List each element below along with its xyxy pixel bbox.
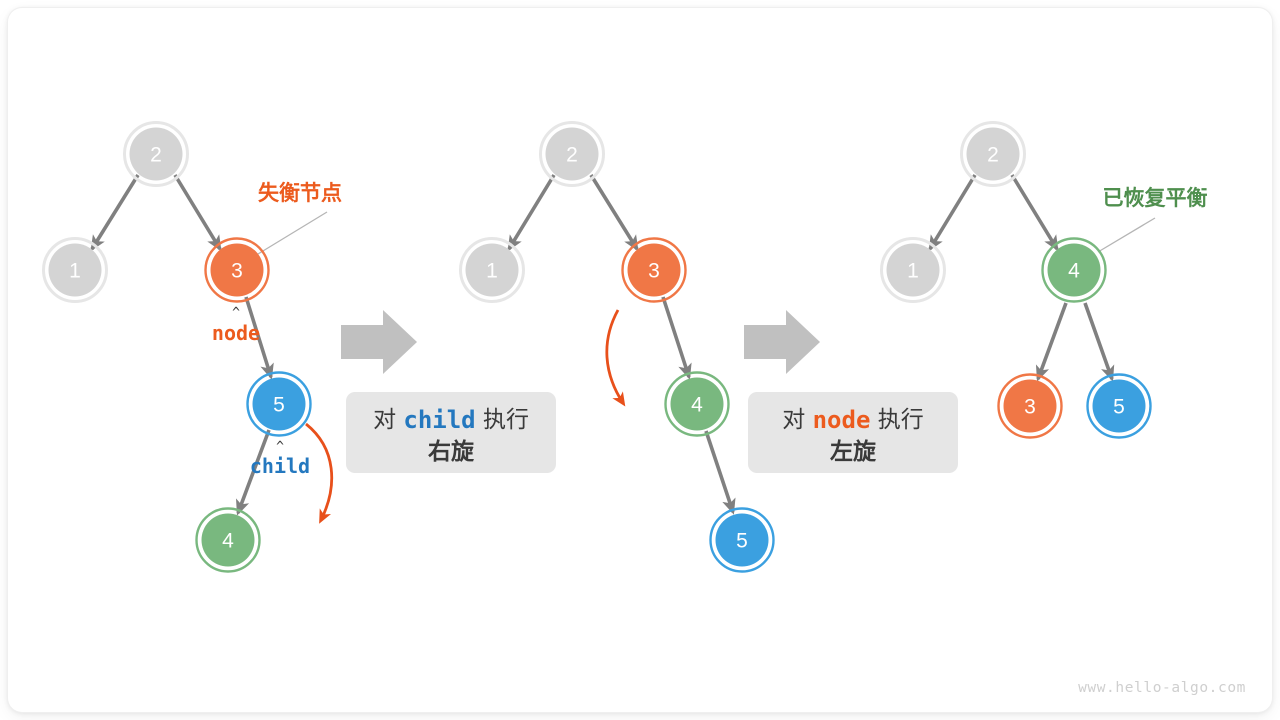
annotation-rebalanced: 已恢复平衡: [1103, 186, 1208, 210]
rotation-arrow-left: [607, 310, 623, 403]
node-label: 3: [231, 260, 243, 283]
edge-3-to-4: [663, 297, 689, 377]
edge-2-to-1: [92, 175, 138, 249]
node-label: 3: [648, 260, 660, 283]
node-p3-n3[interactable]: 3: [999, 375, 1062, 438]
node-p2-n1[interactable]: 1: [461, 239, 524, 302]
node-p2-n3[interactable]: 3: [623, 239, 686, 302]
big-arrow-1: [341, 310, 417, 374]
node-label: 4: [691, 394, 703, 417]
avl-rotation-figure: 2 1 3 5 4 失衡节点 ^: [0, 0, 1280, 720]
edge-2-to-3: [591, 175, 637, 249]
node-label: 1: [486, 260, 498, 283]
node-label: 2: [987, 144, 999, 167]
annotation-unbalanced-node: 失衡节点: [258, 181, 342, 205]
var-label-node: node: [212, 321, 260, 345]
edge-2-to-3: [175, 175, 220, 249]
node-label: 4: [222, 530, 234, 553]
edge-2-to-4: [1012, 175, 1057, 249]
node-p2-n5[interactable]: 5: [711, 509, 774, 572]
node-label: 5: [736, 530, 748, 553]
leader-line-rebalanced: [1098, 218, 1155, 252]
caption-line-2: 左旋: [830, 438, 877, 465]
caption-box-right-rotate: 对 child 执行 右旋: [346, 392, 556, 473]
node-label: 2: [150, 144, 162, 167]
node-p3-n2[interactable]: 2: [962, 123, 1025, 186]
edge-4-to-3: [1038, 303, 1066, 379]
caption-box-left-rotate: 对 node 执行 左旋: [748, 392, 958, 473]
leader-line-unbalanced: [258, 212, 327, 254]
node-p1-n1[interactable]: 1: [44, 239, 107, 302]
node-label: 1: [907, 260, 919, 283]
edge-4-to-5: [706, 431, 733, 512]
caption-var: child: [403, 406, 475, 434]
node-p1-n3[interactable]: 3: [206, 239, 269, 302]
caret-child: ^: [276, 440, 284, 455]
node-label: 5: [1113, 396, 1125, 419]
caption-suffix: 执行: [878, 407, 924, 433]
caption-prefix: 对: [373, 407, 396, 433]
watermark: www.hello-algo.com: [1078, 680, 1246, 696]
caption-line-1: 对 node 执行: [782, 406, 923, 434]
node-p2-n2[interactable]: 2: [541, 123, 604, 186]
caption-var: node: [813, 406, 871, 434]
edge-4-to-5: [1085, 303, 1112, 379]
caption-prefix: 对: [782, 407, 805, 433]
edge-2-to-1: [930, 175, 975, 249]
var-label-child: child: [250, 454, 310, 478]
node-label: 3: [1024, 396, 1036, 419]
panel-before: 2 1 3 5 4 失衡节点 ^: [44, 123, 343, 572]
node-p1-n2[interactable]: 2: [125, 123, 188, 186]
big-arrow-2: [744, 310, 820, 374]
caption-suffix: 执行: [483, 407, 529, 433]
node-p2-n4[interactable]: 4: [666, 373, 729, 436]
node-p3-n5[interactable]: 5: [1088, 375, 1151, 438]
diagram-canvas: 2 1 3 5 4 失衡节点 ^: [0, 0, 1280, 720]
node-p3-n1[interactable]: 1: [882, 239, 945, 302]
caption-line-1: 对 child 执行: [373, 406, 529, 434]
node-p1-n5[interactable]: 5: [248, 373, 311, 436]
node-label: 5: [273, 394, 285, 417]
caption-line-2: 右旋: [428, 438, 475, 465]
edge-2-to-1: [509, 175, 554, 249]
node-p1-n4[interactable]: 4: [197, 509, 260, 572]
caret-node: ^: [232, 306, 240, 321]
panel-middle: 2 1 3 4 5: [461, 123, 774, 572]
node-label: 2: [566, 144, 578, 167]
node-label: 4: [1068, 260, 1080, 283]
node-label: 1: [69, 260, 81, 283]
panel-after: 2 1 4 3 5 已恢复平衡: [882, 123, 1208, 438]
node-p3-n4[interactable]: 4: [1043, 239, 1106, 302]
